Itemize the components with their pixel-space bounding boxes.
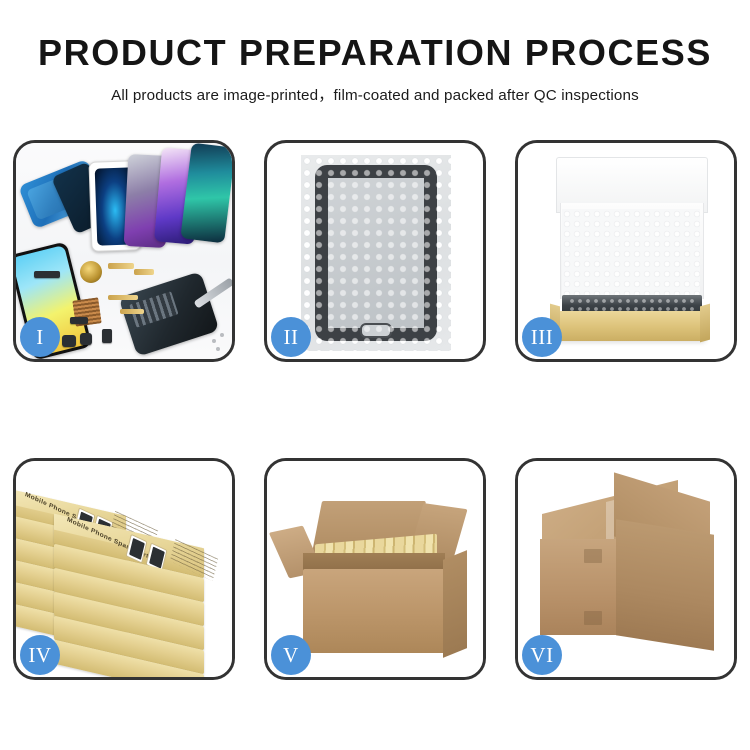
screw-icon — [220, 333, 224, 337]
carton-tab-slot-icon — [584, 611, 602, 625]
step-badge-4: IV — [20, 635, 60, 675]
page-subtitle: All products are image-printed，film-coat… — [0, 83, 750, 105]
page-title: PRODUCT PREPARATION PROCESS — [0, 34, 750, 72]
bubble-wrap-sheet — [301, 155, 451, 351]
process-step-grid: I II III — [13, 140, 737, 680]
step-badge-3: III — [522, 317, 562, 357]
teardown-back-housing-icon — [119, 271, 220, 357]
flex-cable-icon — [108, 295, 138, 300]
chip-part-icon — [34, 271, 60, 278]
screw-icon — [212, 339, 216, 343]
flex-cable-icon — [134, 269, 154, 275]
page-header: PRODUCT PREPARATION PROCESS All products… — [0, 0, 750, 105]
speaker-part-icon — [62, 335, 76, 347]
step-badge-2: II — [271, 317, 311, 357]
foam-padding — [562, 209, 700, 295]
camera-part-icon — [80, 333, 92, 345]
screw-icon — [216, 347, 220, 351]
carton-side-face — [616, 519, 714, 651]
battery-connector-icon — [102, 329, 112, 343]
step-badge-6: VI — [522, 635, 562, 675]
process-panel-bubble-wrapped-screen: II — [264, 140, 486, 362]
process-panel-open-kraft-box: III — [515, 140, 737, 362]
process-panel-sealed-shipping-carton: VI — [515, 458, 737, 680]
flex-cable-icon — [120, 309, 144, 314]
carton-tab-slot-icon — [584, 549, 602, 563]
speaker-coil-icon — [80, 261, 102, 283]
process-panel-open-shipping-carton: V — [264, 458, 486, 680]
process-panel-stacked-retail-boxes: Mobile Phone Spare Parts Mobile Phone Sp… — [13, 458, 235, 680]
phone-screen-assembly — [315, 165, 437, 341]
carton-body — [303, 569, 445, 653]
step-badge-1: I — [20, 317, 60, 357]
chip-part-icon — [70, 317, 88, 324]
carton-front-face — [540, 539, 616, 635]
home-button-icon — [360, 323, 392, 338]
process-panel-phone-parts: I — [13, 140, 235, 362]
flex-cable-icon — [108, 263, 134, 269]
step-badge-5: V — [271, 635, 311, 675]
kraft-box-front-panel — [554, 311, 706, 341]
